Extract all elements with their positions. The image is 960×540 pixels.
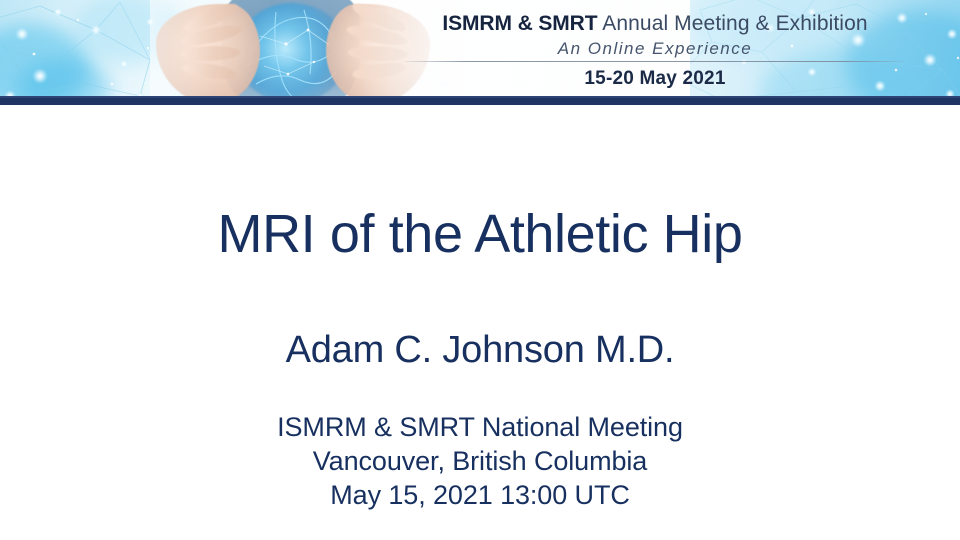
banner-title-line: ISMRM & SMRT Annual Meeting & Exhibition [395, 11, 915, 36]
meta-block: ISMRM & SMRT National Meeting Vancouver,… [0, 410, 960, 512]
banner-tagline: An Online Experience [395, 38, 915, 59]
banner-divider [405, 61, 905, 62]
author-name: Adam C. Johnson M.D. [0, 327, 960, 373]
banner-org-name: ISMRM & SMRT [442, 12, 597, 35]
banner-dates: 15-20 May 2021 [395, 67, 915, 91]
page-title: MRI of the Athletic Hip [0, 203, 960, 265]
banner-text-block: ISMRM & SMRT Annual Meeting & Exhibition… [395, 0, 915, 105]
slide-body: MRI of the Athletic Hip Adam C. Johnson … [0, 105, 960, 540]
meta-line-location: Vancouver, British Columbia [0, 444, 960, 478]
meta-line-datetime: May 15, 2021 13:00 UTC [0, 478, 960, 512]
meta-line-meeting: ISMRM & SMRT National Meeting [0, 410, 960, 444]
conference-banner: ISMRM & SMRT Annual Meeting & Exhibition… [0, 0, 960, 105]
presentation-slide: ISMRM & SMRT Annual Meeting & Exhibition… [0, 0, 960, 540]
banner-event-name: Annual Meeting & Exhibition [597, 12, 867, 35]
navy-accent-bar [0, 96, 960, 105]
